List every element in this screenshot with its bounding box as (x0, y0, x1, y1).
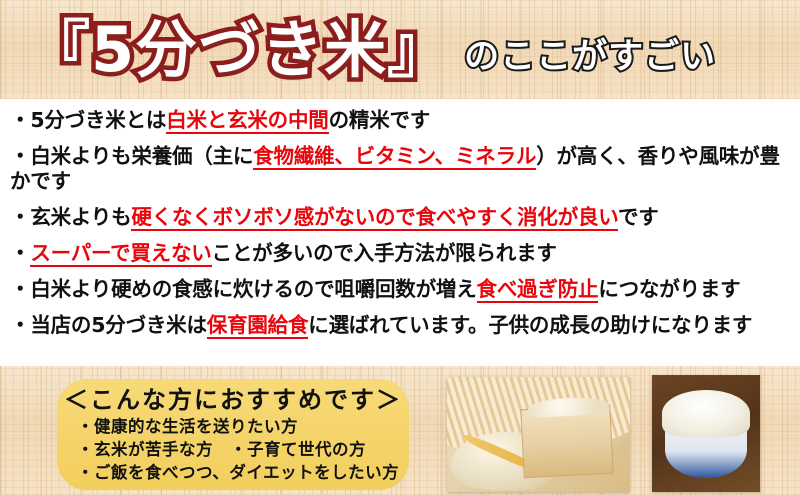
bullet-text: につながります (598, 277, 740, 301)
recommendation-box: ＜こんな方におすすめです＞ ・健康的な生活を送りたい方・玄米が苦手な方 ・子育て… (57, 379, 409, 490)
bullet-text: の精米です (329, 108, 431, 132)
bullet-marker: ・ (10, 241, 30, 265)
benefit-bullet-4: ・スーパーで買えないことが多いので入手方法が限られます (10, 241, 794, 266)
bullet-text: 玄米よりも (30, 205, 131, 229)
bullet-text: です (618, 205, 659, 229)
bullet-text: に選ばれています。子供の成長の助けになります (308, 313, 752, 337)
benefit-bullet-5: ・白米より硬めの食感に炊けるので咀嚼回数が増え食べ過ぎ防止につながります (10, 277, 794, 302)
benefit-bullet-2: ・白米よりも栄養価（主に食物繊維、ビタミン、ミネラル）が高く、香りや風味が豊かで… (10, 144, 794, 194)
highlighted-phrase: 白米と玄米の中間 (166, 108, 328, 134)
bullet-marker: ・ (10, 144, 30, 168)
bullet-text: 当店の5分づき米は (30, 313, 206, 337)
highlighted-phrase: 食べ過ぎ防止 (477, 277, 599, 303)
cooked-rice-mound-shape (662, 390, 751, 437)
highlighted-phrase: 保育園給食 (207, 313, 309, 339)
bullet-text: 白米よりも栄養価（主に (30, 144, 253, 168)
bullet-marker: ・ (10, 277, 30, 301)
bullet-marker: ・ (10, 108, 30, 132)
bullet-text: 5分づき米とは (30, 108, 166, 132)
benefit-bullet-list: ・5分づき米とは白米と玄米の中間の精米です・白米よりも栄養価（主に食物繊維、ビタ… (0, 99, 800, 366)
recommendation-line-1: ・健康的な生活を送りたい方 (57, 415, 409, 438)
benefit-bullet-6: ・当店の5分づき米は保育園給食に選ばれています。子供の成長の助けになります (10, 313, 794, 338)
title-main-text: 『5分づき米』 (28, 19, 450, 81)
recommendation-line-2: ・玄米が苦手な方 ・子育て世代の方 (57, 438, 409, 461)
recommendation-line-list: ・健康的な生活を送りたい方・玄米が苦手な方 ・子育て世代の方・ご飯を食べつつ、ダ… (57, 415, 409, 484)
highlighted-phrase: 食物繊維、ビタミン、ミネラル (253, 144, 536, 170)
bullet-text: 白米より硬めの食感に炊けるので咀嚼回数が増え (30, 277, 476, 301)
recommendation-line-3: ・ご飯を食べつつ、ダイエットをしたい方 (57, 461, 409, 484)
bullet-marker: ・ (10, 205, 30, 229)
benefit-bullet-1: ・5分づき米とは白米と玄米の中間の精米です (10, 108, 794, 133)
raw-rice-in-masu-photo (447, 377, 630, 492)
highlighted-phrase: 硬くなくボソボソ感がないので食べやすく消化が良い (131, 205, 618, 231)
page-title: 『5分づき米』 のここがすごい (0, 0, 800, 99)
title-sub-text: のここがすごい (464, 40, 716, 75)
bullet-text: ことが多いので入手方法が限られます (212, 241, 557, 265)
recommendation-heading: ＜こんな方におすすめです＞ (57, 385, 409, 415)
highlighted-phrase: スーパーで買えない (30, 241, 211, 267)
benefit-bullet-3: ・玄米よりも硬くなくボソボソ感がないので食べやすく消化が良いです (10, 205, 794, 230)
cooked-rice-bowl-photo (652, 375, 760, 492)
bullet-marker: ・ (10, 313, 30, 337)
